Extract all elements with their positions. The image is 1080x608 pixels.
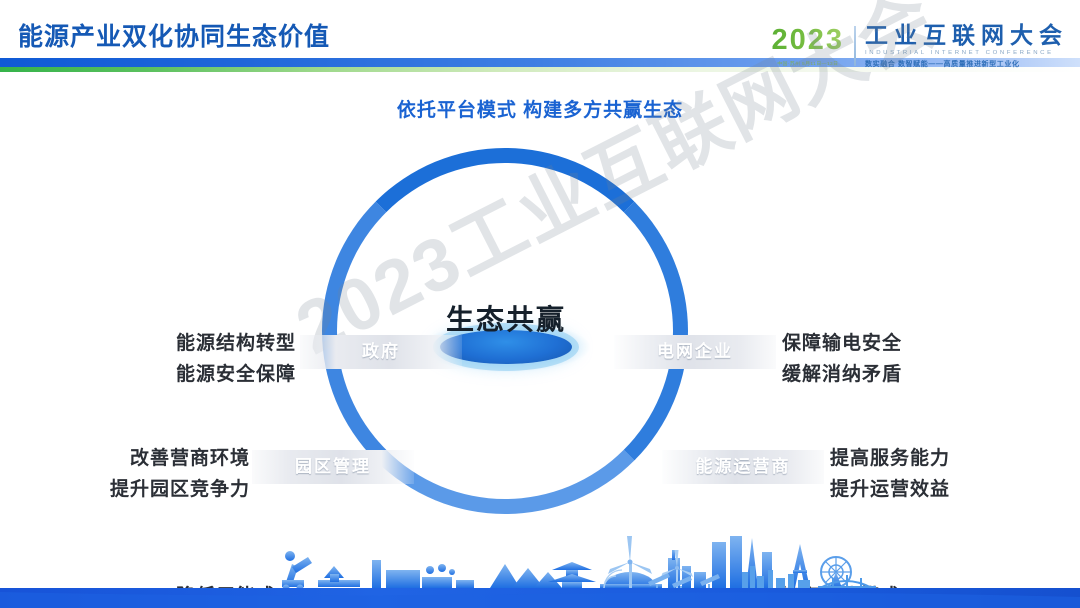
slide-header: 能源产业双化协同生态价值 2023 中国·苏州 5月11日—13日 工业互联网大… [0,0,1080,78]
caption-line: 能源结构转型 [30,328,296,359]
conference-logo: 2023 中国·苏州 5月11日—13日 工业互联网大会 INDUSTRIAL … [771,22,1068,70]
logo-year: 2023 [771,26,844,55]
caption-line: 提升园区竞争力 [10,474,250,505]
caption-line: 能源安全保障 [30,359,296,390]
page-title: 能源产业双化协同生态价值 [18,17,330,53]
caption-line: 提高服务能力 [830,443,1070,474]
node-pill-grid-enterprise[interactable]: 电网企业 [614,335,776,369]
node-pill-park-management[interactable]: 园区管理 [252,450,414,484]
logo-name-cn: 工业互联网大会 [865,24,1068,47]
caption-line: 改善营商环境 [10,443,250,474]
logo-slogan: 数实融合 数智赋能——高质量推进新型工业化 [865,59,1068,69]
caption-park-management: 改善营商环境 提升园区竞争力 [10,443,250,505]
caption-line: 提升运营效益 [830,474,1070,505]
node-pill-government[interactable]: 政府 [300,335,462,369]
logo-name-block: 工业互联网大会 INDUSTRIAL INTERNET CONFERENCE 数… [865,24,1068,69]
footer-skyline [0,522,1080,608]
caption-line: 缓解消纳矛盾 [782,359,1062,390]
center-label: 生态共赢 [406,298,606,338]
caption-grid-enterprise: 保障输电安全 缓解消纳矛盾 [782,328,1062,390]
robot-arm-icon [282,551,312,592]
caption-energy-operator: 提高服务能力 提升运营效益 [830,443,1070,505]
slide-root: 能源产业双化协同生态价值 2023 中国·苏州 5月11日—13日 工业互联网大… [0,0,1080,608]
logo-year-block: 2023 中国·苏州 5月11日—13日 [771,26,854,67]
factory-icon [372,560,474,588]
logo-date: 中国·苏州 5月11日—13日 [777,60,838,66]
caption-government: 能源结构转型 能源安全保障 [30,328,296,390]
logo-divider-icon [854,26,856,66]
skyline-graphic [0,522,1080,608]
node-pill-energy-operator[interactable]: 能源运营商 [662,450,824,484]
pipeline-icon [318,566,360,587]
city-right-icon [742,566,810,588]
logo-name-en: INDUSTRIAL INTERNET CONFERENCE [865,50,1068,56]
ecosystem-diagram: 2023工业互联网大会 生态共赢 政府 电网企业 园区管理 能源运营商 工业企业… [0,130,1080,550]
caption-line: 保障输电安全 [782,328,1062,359]
section-subtitle: 依托平台模式 构建多方共赢生态 [0,95,1080,122]
mountain-icon [490,564,562,588]
